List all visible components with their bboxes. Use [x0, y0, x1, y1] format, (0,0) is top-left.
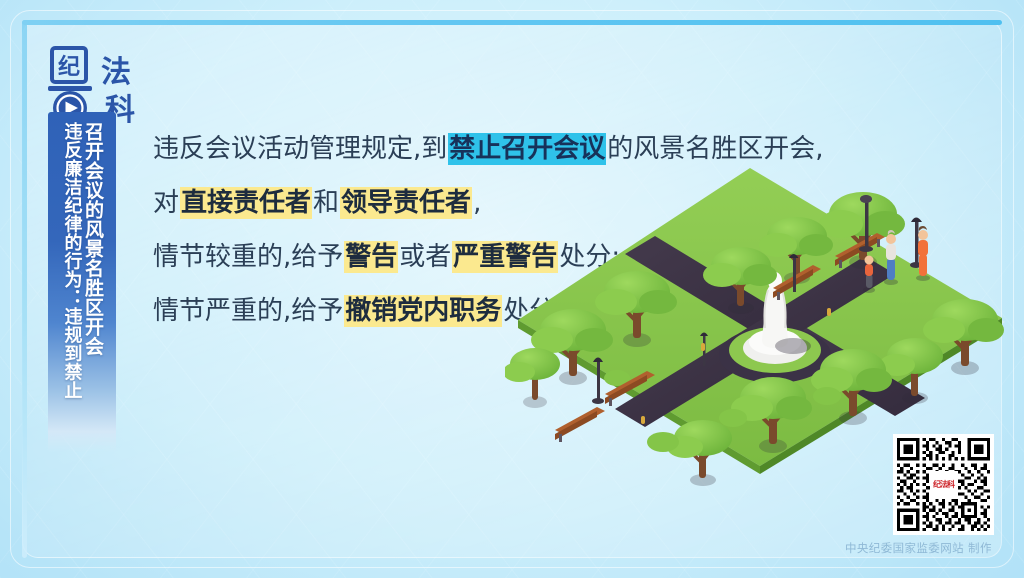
line2-highlight-1: 直接责任者 [180, 187, 312, 219]
shrub [647, 432, 679, 452]
logo-char-fa: 法 [101, 55, 131, 90]
tree [667, 420, 732, 486]
line3-mid: 或者 [398, 241, 452, 273]
line2-pre: 对 [152, 187, 180, 219]
logo-char-ji: 纪 [58, 54, 80, 80]
top-accent-bar [22, 20, 1002, 25]
qr-code[interactable]: 纪法科 [893, 434, 994, 535]
bench [555, 407, 605, 442]
line2-mid: 和 [312, 187, 340, 219]
qr-center-logo: 纪法科 [930, 471, 958, 499]
banner-column-right: 召开会议的风景名胜区开会 [82, 122, 102, 452]
line1-pre: 违反会议活动管理规定,到 [152, 133, 448, 165]
line2-post: , [472, 187, 482, 219]
line4-highlight: 撤销党内职务 [344, 295, 502, 327]
left-accent-bar [22, 20, 27, 558]
poster-canvas: 纪 法 科 召开会议的风景名胜区开会 违反廉洁纪律的行为：违规到禁止 违反会议活… [0, 0, 1024, 578]
path-bollard [701, 343, 705, 351]
line3-highlight-1: 警告 [344, 241, 398, 273]
shrub [813, 387, 841, 405]
path-bollard [827, 308, 831, 316]
line3-pre: 情节较重的,给予 [152, 241, 344, 273]
qr-canvas: 纪法科 [897, 438, 990, 531]
vertical-title-banner: 召开会议的风景名胜区开会 违反廉洁纪律的行为：违规到禁止 [48, 112, 116, 452]
tree [505, 348, 560, 408]
line4-pre: 情节严重的,给予 [152, 295, 344, 327]
banner-column-left: 违反廉洁纪律的行为：违规到禁止 [62, 122, 81, 452]
shrub [719, 409, 747, 427]
credit-text: 中央纪委国家监委网站 制作 [845, 540, 992, 556]
path-bollard [641, 416, 645, 424]
line2-highlight-2: 领导责任者 [340, 187, 472, 219]
qr-center-logo-label: 纪法科 [933, 481, 954, 489]
